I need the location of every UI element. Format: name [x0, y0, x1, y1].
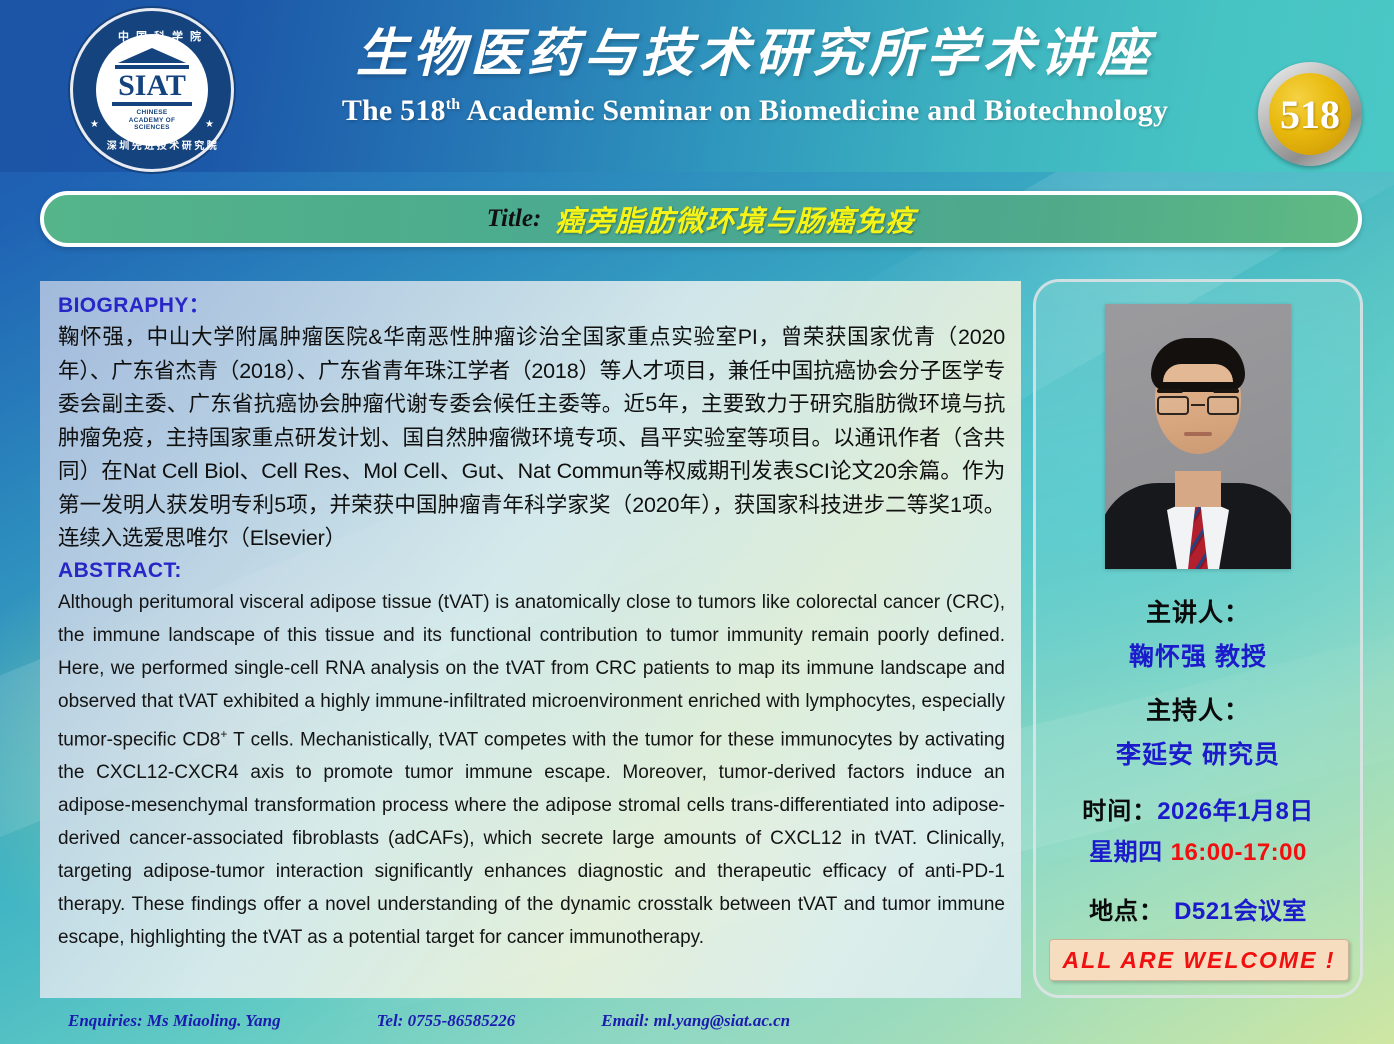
logo-outer-ring: 中国科学院 ★ ★ 深圳先进技术研究院 SIAT CHINESE ACADEMY…	[70, 8, 234, 172]
logo-acronym: SIAT	[118, 71, 186, 101]
biography-heading: BIOGRAPHY：	[58, 291, 1005, 321]
time-date: 2026年1月8日	[1157, 791, 1314, 826]
speaker-name: 鞠怀强 教授	[1129, 637, 1267, 673]
abstract-text: Although peritumoral visceral adipose ti…	[58, 586, 1005, 954]
siat-logo: 中国科学院 ★ ★ 深圳先进技术研究院 SIAT CHINESE ACADEMY…	[62, 4, 242, 176]
speaker-label: 主讲人：	[1146, 593, 1250, 629]
title-en-rest: Academic Seminar on Biomedicine and Biot…	[460, 94, 1168, 127]
badge-number-text: 518	[1280, 91, 1340, 138]
seminar-poster: 中国科学院 ★ ★ 深圳先进技术研究院 SIAT CHINESE ACADEMY…	[0, 0, 1394, 1044]
roof-icon	[117, 48, 187, 64]
weekday-row: 星期四 16:00-17:00	[1089, 832, 1307, 867]
seminar-number-badge: 518	[1258, 62, 1362, 166]
glasses-lens	[1157, 396, 1189, 415]
poster-header: 中国科学院 ★ ★ 深圳先进技术研究院 SIAT CHINESE ACADEMY…	[0, 0, 1394, 172]
weekday-text: 星期四	[1089, 832, 1163, 867]
glasses-icon	[1157, 396, 1239, 416]
portrait-eyebrow	[1157, 389, 1183, 393]
talk-title-banner: Title: 癌旁脂肪微环境与肠癌免疫	[40, 191, 1362, 247]
abstract-heading: ABSTRACT:	[58, 556, 1005, 586]
star-icon: ★	[205, 119, 214, 130]
header-title-block: 生物医药与技术研究所学术讲座 The 518th Academic Semina…	[300, 22, 1210, 128]
time-range: 16:00-17:00	[1171, 839, 1307, 867]
logo-subtitle: CHINESE ACADEMY OF SCIENCES	[129, 109, 176, 132]
footer-enquiries: Enquiries: Ms Miaoling. Yang	[68, 1011, 281, 1031]
time-row: 时间： 2026年1月8日	[1082, 791, 1314, 826]
talk-title-label: Title:	[487, 205, 542, 233]
portrait-eyebrow	[1213, 389, 1239, 393]
portrait-mouth	[1184, 432, 1212, 436]
place-row: 地点： D521会议室	[1089, 891, 1307, 926]
badge-gold-disc: 518	[1269, 73, 1351, 155]
title-en-ordinal: th	[446, 96, 461, 113]
title-en-prefix: The 518	[342, 94, 446, 127]
content-panel: BIOGRAPHY： 鞠怀强，中山大学附属肿瘤医院&华南恶性肿瘤诊治全国家重点实…	[40, 281, 1021, 998]
logo-subtitle-line1: CHINESE	[129, 109, 176, 117]
logo-subtitle-line3: SCIENCES	[129, 124, 176, 132]
biography-text: 鞠怀强，中山大学附属肿瘤医院&华南恶性肿瘤诊治全国家重点实验室PI，曾荣获国家优…	[58, 321, 1005, 556]
time-label: 时间：	[1082, 791, 1157, 826]
logo-subtitle-line2: ACADEMY OF	[129, 117, 176, 125]
speaker-portrait	[1105, 304, 1291, 569]
host-name: 李延安 研究员	[1116, 735, 1280, 771]
logo-inner-disc: SIAT CHINESE ACADEMY OF SCIENCES	[96, 34, 208, 146]
portrait-hair	[1151, 338, 1245, 392]
place-label: 地点：	[1089, 891, 1164, 926]
talk-title-text: 癌旁脂肪微环境与肠癌免疫	[555, 198, 915, 240]
welcome-text: ALL ARE WELCOME !	[1063, 947, 1336, 974]
logo-divider	[112, 102, 192, 106]
speaker-sidebar: 主讲人： 鞠怀强 教授 主持人： 李延安 研究员 时间： 2026年1月8日 星…	[1033, 279, 1363, 998]
glasses-bridge	[1191, 404, 1205, 406]
abstract-part-2: T cells. Mechanistically, tVAT competes …	[58, 729, 1005, 948]
star-icon: ★	[90, 119, 99, 130]
welcome-banner: ALL ARE WELCOME !	[1049, 939, 1349, 981]
seminar-title-english: The 518th Academic Seminar on Biomedicin…	[300, 94, 1210, 128]
glasses-lens	[1207, 396, 1239, 415]
footer-tel: Tel: 0755-86585226	[377, 1011, 516, 1031]
abstract-part-1: Although peritumoral visceral adipose ti…	[58, 592, 1005, 750]
seminar-title-chinese: 生物医药与技术研究所学术讲座	[300, 22, 1210, 88]
footer-email: Email: ml.yang@siat.ac.cn	[601, 1011, 790, 1031]
place-value: D521会议室	[1174, 891, 1307, 926]
poster-footer: Enquiries: Ms Miaoling. Yang Tel: 0755-8…	[0, 1004, 1010, 1038]
host-label: 主持人：	[1146, 691, 1250, 727]
portrait-neck	[1175, 471, 1221, 507]
